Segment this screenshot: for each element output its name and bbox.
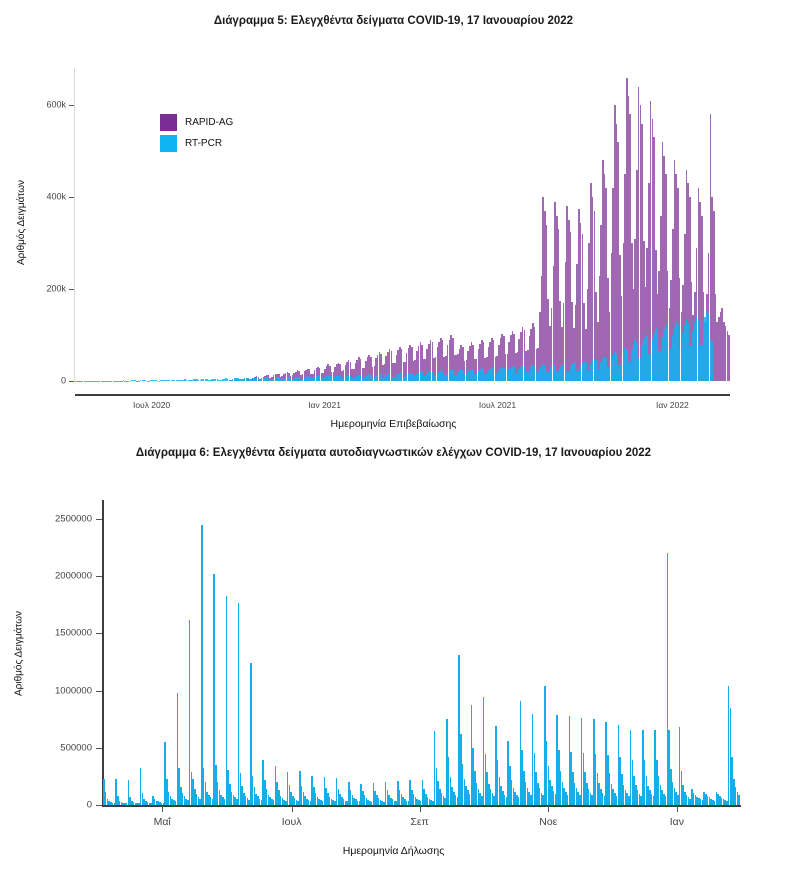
chart5-title: Διάγραμμα 5: Ελεγχθέντα δείγματα COVID-1…: [0, 0, 787, 28]
legend-label-rapid-ag: RAPID-AG: [185, 117, 233, 128]
chart6-bars-container: [103, 507, 740, 805]
legend-swatch-icon: [160, 114, 177, 131]
chart6-x-tick-mark: [292, 806, 293, 812]
chart5-x-tick-label: Ιουλ 2020: [133, 401, 170, 410]
bar: [201, 525, 203, 806]
report-page: Διάγραμμα 5: Ελεγχθέντα δείγματα COVID-1…: [0, 0, 787, 870]
chart6-y-tick-mark: [96, 805, 102, 806]
chart6-y-tick-mark: [96, 691, 102, 692]
legend-swatch-icon: [160, 135, 177, 152]
chart6-title: Διάγραμμα 6: Ελεγχθέντα δείγματα αυτοδια…: [0, 430, 787, 460]
chart5-legend: RAPID-AG RT-PCR: [160, 114, 233, 156]
chart6-y-tick-mark: [96, 576, 102, 577]
legend-item-rapid-ag: RAPID-AG: [160, 114, 233, 131]
chart6-y-tick-mark: [96, 748, 102, 749]
chart6-x-tick-mark: [162, 806, 163, 812]
chart6-y-tick-mark: [96, 633, 102, 634]
chart6-x-axis-label: Ημερομηνία Δήλωσης: [0, 845, 787, 857]
chart6-x-tick-label: Ιουλ: [282, 817, 302, 828]
chart5-y-tick-label: 0: [0, 377, 66, 386]
chart6-x-tick-label: Ιαν: [670, 817, 684, 828]
chart6-x-tick-label: Νοε: [539, 817, 557, 828]
chart6-x-tick-mark: [677, 806, 678, 812]
chart5-x-tick-label: Ιαν 2021: [308, 401, 341, 410]
chart6-x-axis-line: [102, 805, 741, 807]
figure-diagram-6: Διάγραμμα 6: Ελεγχθέντα δείγματα αυτοδια…: [0, 430, 787, 870]
chart5-y-tick-mark: [69, 105, 74, 106]
chart5-y-tick-label: 400k: [0, 193, 66, 202]
chart6-x-tick-label: Μαΐ: [154, 817, 171, 828]
chart5-y-tick-mark: [69, 289, 74, 290]
bar: [738, 795, 740, 806]
chart5-x-axis-line: [75, 394, 730, 396]
legend-item-rt-pcr: RT-PCR: [160, 135, 233, 152]
chart5-x-axis-label: Ημερομηνία Επιβεβαίωσης: [0, 418, 787, 430]
chart6-x-tick-label: Σεπ: [410, 817, 428, 828]
chart5-x-tick-label: Ιουλ 2021: [479, 401, 516, 410]
chart5-y-tick-label: 200k: [0, 285, 66, 294]
chart5-y-tick-label: 600k: [0, 101, 66, 110]
chart6-x-tick-mark: [548, 806, 549, 812]
chart5-y-tick-mark: [69, 197, 74, 198]
bar: [711, 341, 713, 382]
chart5-y-tick-mark: [69, 381, 74, 382]
chart5-y-axis-label: Αριθμός Δειγμάτων: [16, 66, 27, 379]
figure-diagram-5: Διάγραμμα 5: Ελεγχθέντα δείγματα COVID-1…: [0, 0, 787, 430]
legend-label-rt-pcr: RT-PCR: [185, 138, 222, 149]
chart6-y-tick-mark: [96, 519, 102, 520]
chart6-y-axis-label: Αριθμός Δειγμάτων: [14, 505, 25, 803]
chart6-x-tick-mark: [420, 806, 421, 812]
chart5-x-tick-label: Ιαν 2022: [656, 401, 689, 410]
